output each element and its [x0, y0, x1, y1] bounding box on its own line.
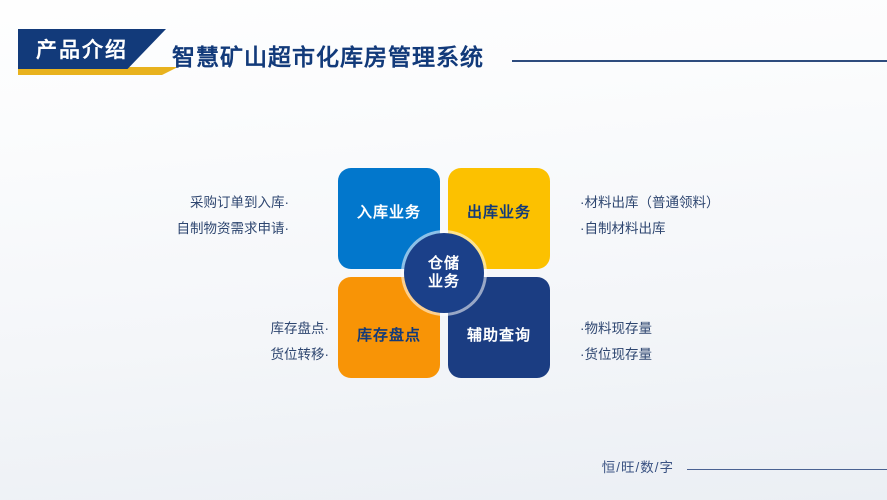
- note-line: 库存盘点·: [271, 316, 330, 342]
- note-line: ·自制材料出库: [580, 216, 720, 242]
- warehouse-business-diagram: 入库业务 出库业务 库存盘点 辅助查询 仓储 业务: [338, 168, 550, 378]
- footer-divider-rule: [687, 469, 887, 471]
- tile-inbound-label: 入库业务: [357, 201, 421, 222]
- tile-stocktake-label: 库存盘点: [357, 324, 421, 345]
- note-line: ·材料出库（普通领料）: [580, 190, 720, 216]
- center-hub-circle[interactable]: 仓储 业务: [404, 233, 484, 313]
- header-divider-rule: [512, 60, 887, 62]
- notes-top-left: 采购订单到入库· 自制物资需求申请·: [177, 190, 290, 243]
- tile-query-label: 辅助查询: [467, 324, 531, 345]
- tile-outbound-label: 出库业务: [467, 201, 531, 222]
- notes-bottom-right: ·物料现存量 ·货位现存量: [580, 316, 652, 369]
- note-line: ·物料现存量: [580, 316, 652, 342]
- note-line: 自制物资需求申请·: [177, 216, 290, 242]
- note-line: 采购订单到入库·: [177, 190, 290, 216]
- notes-bottom-left: 库存盘点· 货位转移·: [271, 316, 330, 369]
- section-banner-label: 产品介绍: [36, 34, 128, 64]
- note-line: ·货位现存量: [580, 342, 652, 368]
- center-hub-line-1: 仓储: [428, 255, 460, 273]
- page-title: 智慧矿山超市化库房管理系统: [172, 38, 484, 72]
- note-line: 货位转移·: [271, 342, 330, 368]
- footer-brand-text: 恒/旺/数/字: [602, 456, 674, 476]
- slide-header: 产品介绍 智慧矿山超市化库房管理系统: [0, 0, 887, 100]
- notes-top-right: ·材料出库（普通领料） ·自制材料出库: [580, 190, 720, 243]
- section-banner-tag: 产品介绍: [18, 29, 166, 69]
- slide-footer: 恒/旺/数/字: [0, 440, 887, 500]
- center-hub-line-2: 业务: [428, 273, 460, 291]
